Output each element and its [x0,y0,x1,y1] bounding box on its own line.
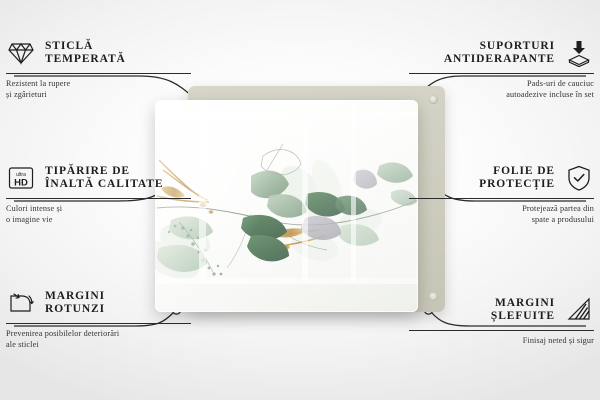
feature-desc-line-2: autoadezive incluse în set [409,90,594,101]
feature-header: STICLĂ TEMPERATĂ [6,38,191,68]
feature-polished-edges: MARGINI ȘLEFUITE Finisaj neted și sigur [409,295,594,347]
feature-divider [409,73,594,74]
feature-tempered-glass: STICLĂ TEMPERATĂ Rezistent la rupere și … [6,38,191,100]
feature-divider [6,323,191,324]
feature-header: SUPORTURI ANTIDERAPANTE [409,38,594,68]
feature-header: FOLIE DE PROTECȚIE [409,163,594,193]
feature-title: TIPĂRIRE DE ÎNALTĂ CALITATE [45,165,163,191]
feature-title: STICLĂ TEMPERATĂ [45,40,126,66]
feature-hd-print: ultra HD TIPĂRIRE DE ÎNALTĂ CALITATE Cul… [6,163,191,225]
feature-desc-line-2: o imagine vie [6,215,191,226]
feature-desc-line-1: Finisaj neted și sigur [409,336,594,347]
feature-title: SUPORTURI ANTIDERAPANTE [444,40,555,66]
feature-title: MARGINI ROTUNZI [45,290,105,316]
feature-protective-film: FOLIE DE PROTECȚIE Protejează partea din… [409,163,594,225]
feature-header: MARGINI ROTUNZI [6,288,191,318]
anti-slip-pad-icon [564,38,594,68]
feature-desc-line-1: Pads-uri de cauciuc [409,79,594,90]
feature-desc-line-2: spate a produsului [409,215,594,226]
product-image [155,86,445,322]
feature-title: MARGINI ȘLEFUITE [491,297,555,323]
feature-divider [409,198,594,199]
feature-desc-line-1: Protejează partea din [409,204,594,215]
feature-desc-line-1: Prevenirea posibilelor deteriorări [6,329,191,340]
sparkle-icon [199,110,221,132]
shield-check-icon [564,163,594,193]
feature-anti-slip-pads: SUPORTURI ANTIDERAPANTE Pads-uri de cauc… [409,38,594,100]
diamond-icon [6,38,36,68]
ultra-hd-icon: ultra HD [6,163,36,193]
feature-desc-line-2: ale sticlei [6,340,191,351]
rounded-corner-icon [6,288,36,318]
feature-title: FOLIE DE PROTECȚIE [479,165,555,191]
feature-desc-line-1: Culori intense și [6,204,191,215]
feature-header: ultra HD TIPĂRIRE DE ÎNALTĂ CALITATE [6,163,191,193]
feature-desc-line-1: Rezistent la rupere [6,79,191,90]
feature-divider [6,73,191,74]
glass-board-front [155,100,418,312]
feature-rounded-edges: MARGINI ROTUNZI Prevenirea posibilelor d… [6,288,191,350]
svg-text:HD: HD [14,178,28,189]
feature-desc-line-2: și zgârieturi [6,90,191,101]
polished-edge-icon [564,295,594,325]
feature-header: MARGINI ȘLEFUITE [409,295,594,325]
feature-divider [6,198,191,199]
feature-divider [409,330,594,331]
botanical-artwork [155,100,418,312]
